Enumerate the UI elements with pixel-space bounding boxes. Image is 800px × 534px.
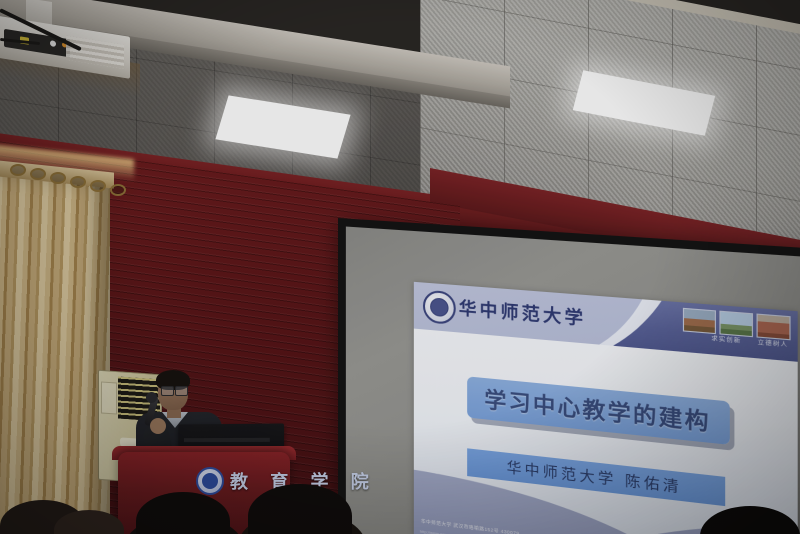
projection-screen-surface: 华中师范大学 求实创新 立德树人 学习中心教学的建构 华中师范大学 — [346, 227, 800, 534]
campus-photo-3-image — [757, 314, 791, 341]
monitor-screen-glare — [184, 438, 270, 442]
slide-title-box: 学习中心教学的建构 — [467, 376, 730, 445]
air-conditioner-panel — [101, 381, 117, 414]
window-curtain — [0, 168, 110, 534]
slide-author: 华中师范大学 陈佑清 — [507, 456, 682, 497]
presenter-hand — [150, 418, 166, 434]
campus-photo-1-image — [683, 308, 716, 334]
presentation-slide: 华中师范大学 求实创新 立德树人 学习中心教学的建构 华中师范大学 — [414, 282, 798, 534]
curtain-grommet — [10, 164, 26, 176]
curtain-grommet — [50, 172, 66, 184]
presenter-glasses-right-lens — [175, 386, 188, 396]
presenter-glasses-left-lens — [161, 386, 174, 396]
curtain-grommet — [70, 176, 86, 188]
curtain-grommet — [30, 168, 46, 180]
projection-screen: 华中师范大学 求实创新 立德树人 学习中心教学的建构 华中师范大学 — [338, 218, 800, 534]
projector-indicator-light — [50, 40, 56, 47]
slide-header-bar: 华中师范大学 求实创新 立德树人 — [414, 282, 798, 362]
lecture-hall-photo: 华中师范大学 求实创新 立德树人 学习中心教学的建构 华中师范大学 — [0, 0, 800, 534]
motto-part-1: 求实创新 — [711, 334, 741, 345]
microphone-head-icon — [146, 392, 157, 403]
curtain-grommet — [110, 184, 126, 196]
projector-vent-grille — [66, 36, 124, 69]
slide-title: 学习中心教学的建构 — [484, 383, 710, 437]
college-emblem-icon — [196, 467, 224, 495]
campus-photo-2-image — [719, 311, 753, 338]
motto-part-2: 立德树人 — [758, 338, 789, 349]
curtain-grommet — [90, 180, 106, 192]
